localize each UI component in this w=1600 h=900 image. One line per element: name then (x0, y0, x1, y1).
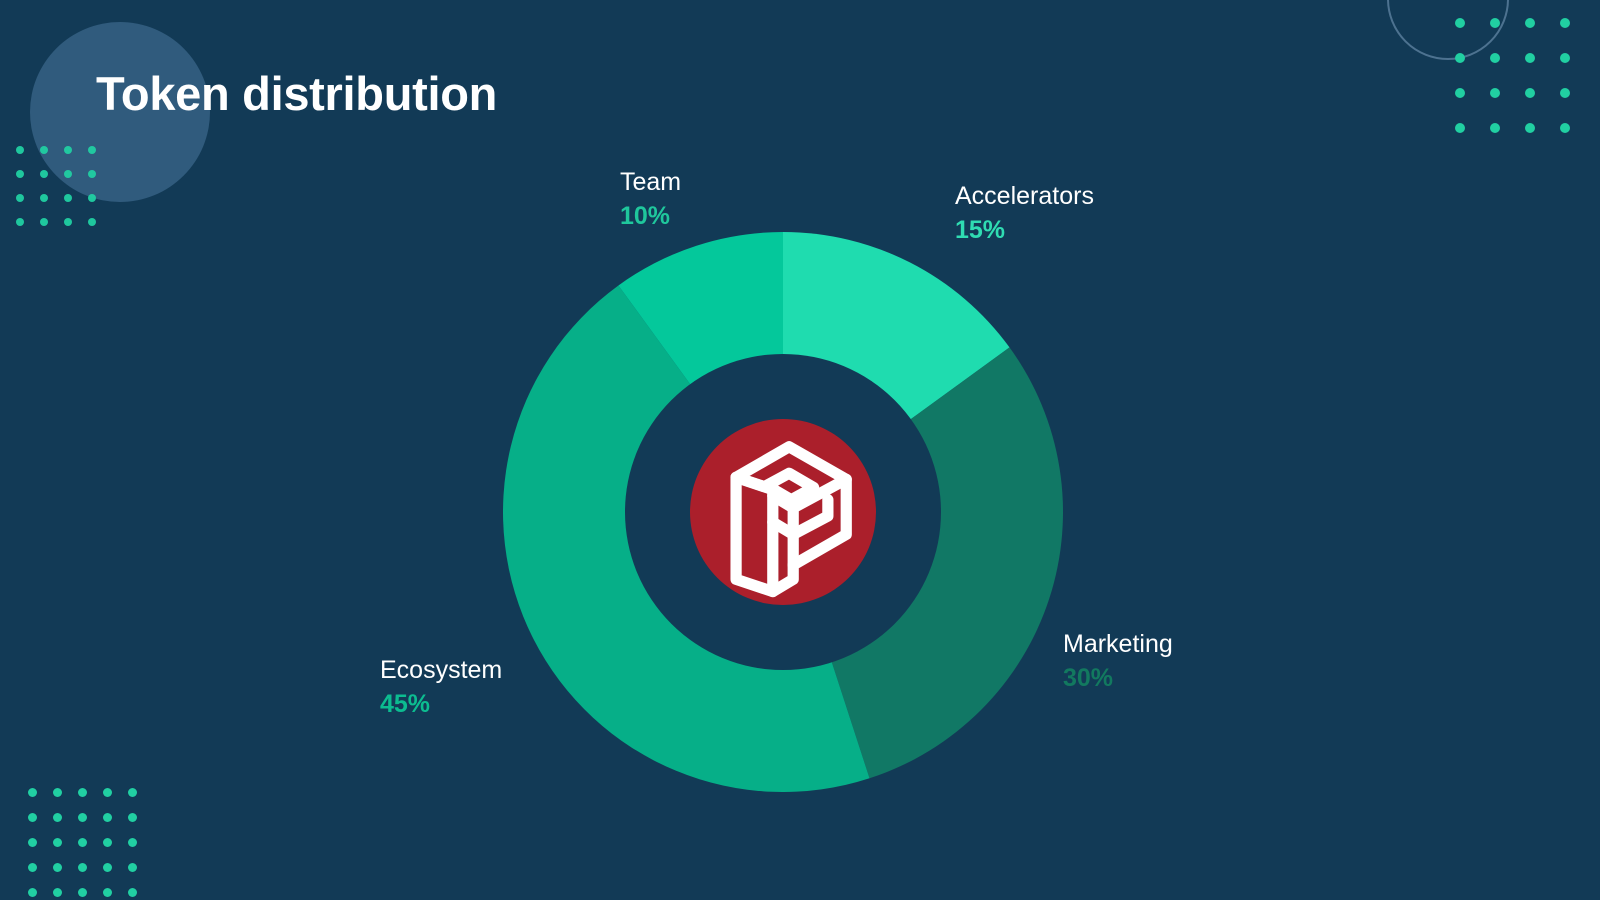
decorative-dot (28, 863, 37, 872)
decorative-dot (1525, 88, 1535, 98)
decorative-dot (28, 813, 37, 822)
decorative-dot (1455, 53, 1465, 63)
decorative-dot (103, 838, 112, 847)
legend-label-ecosystem: Ecosystem (380, 656, 502, 686)
decorative-dot (78, 863, 87, 872)
decorative-dot (103, 813, 112, 822)
decorative-dot (1490, 53, 1500, 63)
decorative-dot (1525, 18, 1535, 28)
decorative-dot (1525, 53, 1535, 63)
decorative-dot (128, 813, 137, 822)
decorative-dot (40, 194, 48, 202)
decorative-dot (78, 813, 87, 822)
decorative-dot (88, 170, 96, 178)
decorative-dot (53, 888, 62, 897)
legend-label-marketing: Marketing (1063, 630, 1173, 660)
decorative-dot (28, 788, 37, 797)
decorative-dot (128, 788, 137, 797)
decorative-dot (1525, 123, 1535, 133)
slide-root: Token distribution Team (0, 0, 1600, 900)
decorative-dot (64, 218, 72, 226)
decorative-dot (1560, 53, 1570, 63)
decorative-dot (53, 813, 62, 822)
decorative-dot (16, 218, 24, 226)
decorative-dot (103, 788, 112, 797)
decorative-dot (53, 838, 62, 847)
legend-item-marketing: Marketing 30% (1063, 630, 1173, 693)
legend-value-marketing: 30% (1063, 663, 1173, 693)
decorative-dot (103, 888, 112, 897)
decorative-dot (64, 170, 72, 178)
legend-label-accelerators: Accelerators (955, 182, 1094, 212)
decorative-dot (128, 888, 137, 897)
decorative-dot (88, 218, 96, 226)
decorative-dot (1560, 88, 1570, 98)
donut-chart (503, 232, 1063, 792)
decorative-dot (1455, 123, 1465, 133)
decorative-dot (64, 146, 72, 154)
decorative-dot (128, 838, 137, 847)
decorative-dot (78, 838, 87, 847)
decorative-dot (28, 888, 37, 897)
decorative-dot (88, 194, 96, 202)
decorative-dot (1455, 18, 1465, 28)
decorative-dot (40, 146, 48, 154)
decorative-dot (16, 146, 24, 154)
decorative-dot (1560, 18, 1570, 28)
decorative-dot (1490, 18, 1500, 28)
legend-value-ecosystem: 45% (380, 689, 502, 719)
decorative-dot (88, 146, 96, 154)
decorative-dot (128, 863, 137, 872)
decorative-dot (103, 863, 112, 872)
legend-item-ecosystem: Ecosystem 45% (380, 656, 502, 719)
decorative-dot (1455, 88, 1465, 98)
decorative-dot (40, 170, 48, 178)
decorative-outline-circle (1387, 0, 1509, 60)
decorative-dot (1490, 88, 1500, 98)
decorative-dot (28, 838, 37, 847)
legend-value-team: 10% (620, 201, 681, 231)
decorative-dot (78, 788, 87, 797)
decorative-dot (53, 863, 62, 872)
decorative-dot (53, 788, 62, 797)
donut-chart-svg (503, 232, 1063, 792)
legend-label-team: Team (620, 168, 681, 198)
decorative-dot (64, 194, 72, 202)
page-title: Token distribution (96, 66, 497, 121)
decorative-dot (16, 170, 24, 178)
decorative-dot (1490, 123, 1500, 133)
decorative-dot (40, 218, 48, 226)
decorative-dot (78, 888, 87, 897)
legend-item-team: Team 10% (620, 168, 681, 231)
decorative-dot (1560, 123, 1570, 133)
decorative-dot (16, 194, 24, 202)
legend-value-accelerators: 15% (955, 215, 1094, 245)
legend-item-accelerators: Accelerators 15% (955, 182, 1094, 245)
